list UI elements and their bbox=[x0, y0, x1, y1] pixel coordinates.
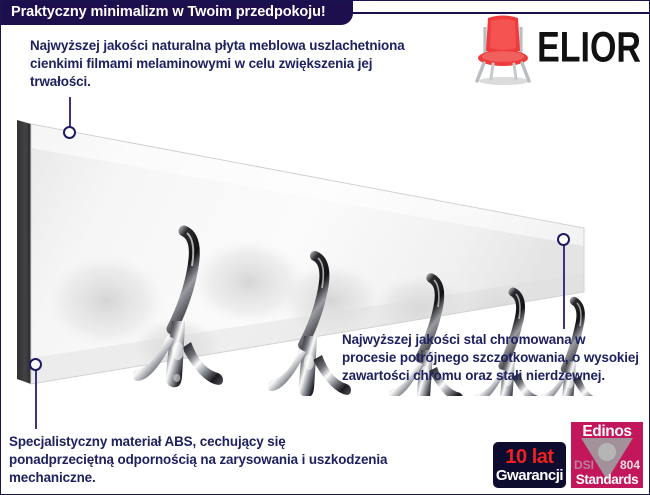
edinos-standards-label: Standards bbox=[571, 472, 643, 487]
callout-marker-edge bbox=[29, 358, 42, 371]
callout-text-board: Najwyższej jakości naturalna płyta meblo… bbox=[30, 37, 430, 92]
guarantee-years: 10 lat bbox=[505, 447, 553, 467]
header-banner: Praktyczny minimalizm w Twoim przedpokoj… bbox=[1, 1, 353, 25]
callout-marker-hook bbox=[557, 233, 570, 246]
callout-text-steel: Najwyższej jakości stal chromowana w pro… bbox=[342, 331, 642, 386]
brand-name: ELIOR bbox=[537, 26, 641, 74]
edinos-dsi-label: DSI bbox=[574, 458, 594, 472]
edinos-title: Edinos bbox=[571, 423, 643, 441]
infographic-page: Praktyczny minimalizm w Twoim przedpokoj… bbox=[0, 0, 650, 495]
callout-leader-abs bbox=[35, 367, 37, 429]
red-chair-icon bbox=[471, 13, 535, 87]
badge-group: 10 lat Gwarancji Edinos DSI 804 Standard… bbox=[493, 422, 643, 488]
callout-text-abs: Specjalistyczny materiał ABS, cechujący … bbox=[9, 433, 389, 488]
callout-leader-steel bbox=[563, 245, 565, 329]
brand-logo: ELIOR bbox=[477, 11, 641, 89]
edinos-number: 804 bbox=[620, 458, 640, 472]
edinos-standards-badge: Edinos DSI 804 Standards bbox=[571, 422, 643, 488]
page-title: Praktyczny minimalizm w Twoim przedpokoj… bbox=[11, 4, 326, 20]
guarantee-label: Gwarancji bbox=[496, 468, 563, 483]
guarantee-badge: 10 lat Gwarancji bbox=[493, 442, 566, 488]
callout-marker-board bbox=[63, 126, 76, 139]
